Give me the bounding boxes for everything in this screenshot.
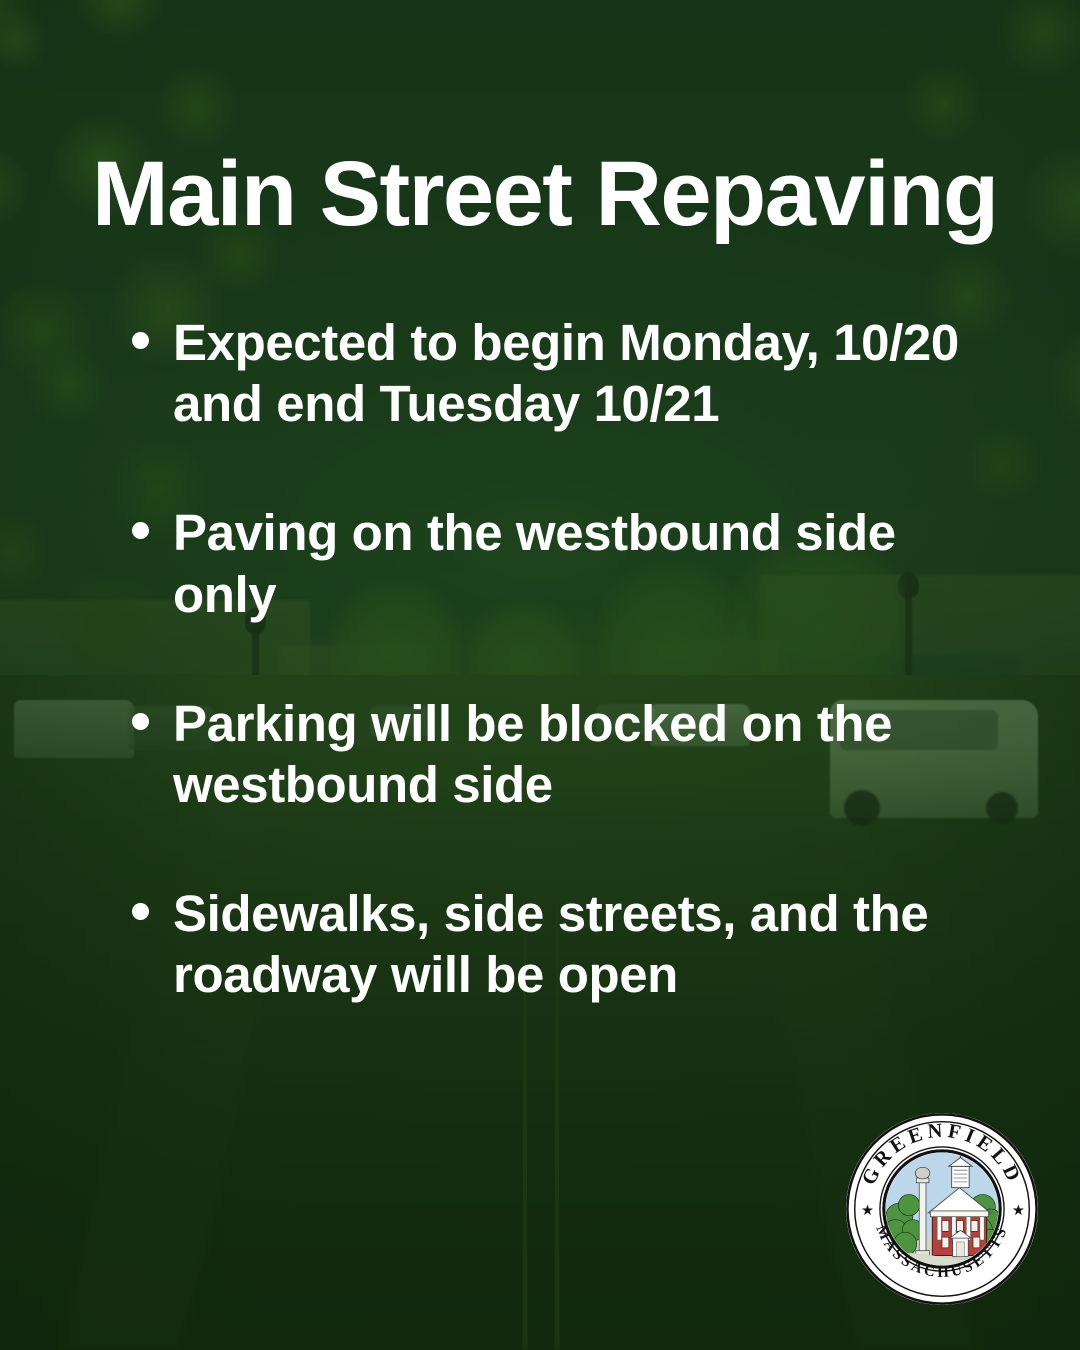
bullet-list: Expected to begin Monday, 10/20 and end … <box>132 312 1024 1006</box>
list-item: Expected to begin Monday, 10/20 and end … <box>132 312 1024 434</box>
page-title: Main Street Repaving <box>92 148 998 242</box>
bullet-text: Expected to begin Monday, 10/20 and end … <box>173 312 993 434</box>
bullet-dot-icon <box>132 713 149 730</box>
poster: Main Street Repaving Expected to begin M… <box>0 0 1080 1350</box>
list-item: Parking will be blocked on the westbound… <box>132 693 1024 815</box>
seal-right-star-icon: ★ <box>1012 1203 1025 1219</box>
poster-content: Main Street Repaving Expected to begin M… <box>0 0 1080 1350</box>
list-item: Paving on the westbound side only <box>132 502 1024 624</box>
bullet-dot-icon <box>132 903 149 920</box>
seal-left-star-icon: ★ <box>861 1203 874 1219</box>
bullet-dot-icon <box>132 332 149 349</box>
bullet-text: Sidewalks, side streets, and the roadway… <box>173 883 993 1005</box>
bullet-dot-icon <box>132 522 149 539</box>
list-item: Sidewalks, side streets, and the roadway… <box>132 883 1024 1005</box>
bullet-text: Parking will be blocked on the westbound… <box>173 693 993 815</box>
bullet-text: Paving on the westbound side only <box>173 502 993 624</box>
greenfield-town-seal-logo: GREENFIELD MASSACHUSETTS ★ ★ <box>845 1112 1039 1306</box>
